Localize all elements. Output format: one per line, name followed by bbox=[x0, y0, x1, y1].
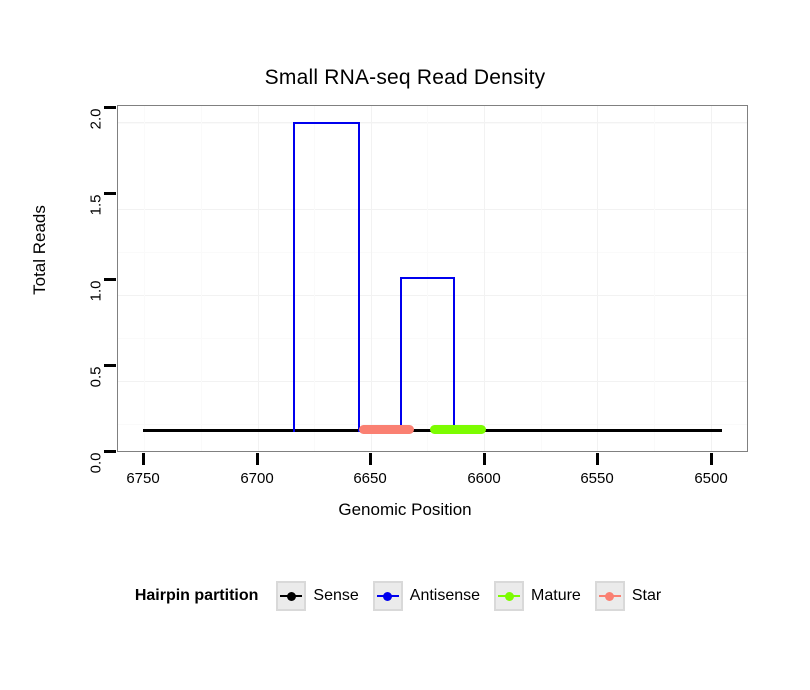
x-tick-3 bbox=[483, 453, 486, 465]
x-tick-4 bbox=[596, 453, 599, 465]
chart-title: Small RNA-seq Read Density bbox=[0, 66, 810, 90]
x-tick-2 bbox=[369, 453, 372, 465]
x-axis-title: Genomic Position bbox=[0, 500, 810, 520]
legend-key-sense bbox=[276, 581, 306, 611]
x-tick-0 bbox=[142, 453, 145, 465]
legend-point-icon bbox=[605, 592, 614, 601]
x-tick-1 bbox=[256, 453, 259, 465]
legend-label-antisense: Antisense bbox=[410, 587, 480, 605]
legend-key-star bbox=[595, 581, 625, 611]
y-tick-label-2: 1.0 bbox=[88, 281, 105, 341]
legend-point-icon bbox=[383, 592, 392, 601]
legend-item-star[interactable]: Star bbox=[595, 581, 661, 611]
x-tick-5 bbox=[710, 453, 713, 465]
legend-title: Hairpin partition bbox=[135, 587, 259, 605]
legend-label-sense: Sense bbox=[313, 587, 358, 605]
x-tick-label-1: 6700 bbox=[212, 470, 302, 487]
legend-item-sense[interactable]: Sense bbox=[276, 581, 358, 611]
y-tick-label-4: 2.0 bbox=[88, 109, 105, 169]
legend-label-mature: Mature bbox=[531, 587, 581, 605]
series-antisense-peak-2 bbox=[400, 277, 455, 432]
legend-point-icon bbox=[505, 592, 514, 601]
x-tick-label-3: 6600 bbox=[439, 470, 529, 487]
legend: Hairpin partition Sense Antisense Mature bbox=[0, 578, 810, 614]
x-tick-label-4: 6550 bbox=[552, 470, 642, 487]
legend-label-star: Star bbox=[632, 587, 661, 605]
x-tick-label-5: 6500 bbox=[666, 470, 756, 487]
y-axis-title: Total Reads bbox=[30, 150, 50, 350]
legend-item-antisense[interactable]: Antisense bbox=[373, 581, 480, 611]
chart-canvas: Small RNA-seq Read Density bbox=[0, 0, 810, 690]
series-layer bbox=[117, 105, 748, 452]
legend-point-icon bbox=[287, 592, 296, 601]
y-tick-1 bbox=[104, 364, 116, 367]
x-tick-label-0: 6750 bbox=[98, 470, 188, 487]
series-star-segment bbox=[359, 425, 414, 434]
legend-key-antisense bbox=[373, 581, 403, 611]
y-tick-label-3: 1.5 bbox=[88, 195, 105, 255]
y-tick-2 bbox=[104, 278, 116, 281]
y-tick-label-1: 0.5 bbox=[88, 367, 105, 427]
series-mature-segment bbox=[430, 425, 486, 434]
y-tick-4 bbox=[104, 106, 116, 109]
legend-item-mature[interactable]: Mature bbox=[494, 581, 581, 611]
legend-key-mature bbox=[494, 581, 524, 611]
series-antisense-peak-1 bbox=[293, 122, 360, 432]
x-tick-label-2: 6650 bbox=[325, 470, 415, 487]
y-tick-3 bbox=[104, 192, 116, 195]
y-tick-0 bbox=[104, 450, 116, 453]
